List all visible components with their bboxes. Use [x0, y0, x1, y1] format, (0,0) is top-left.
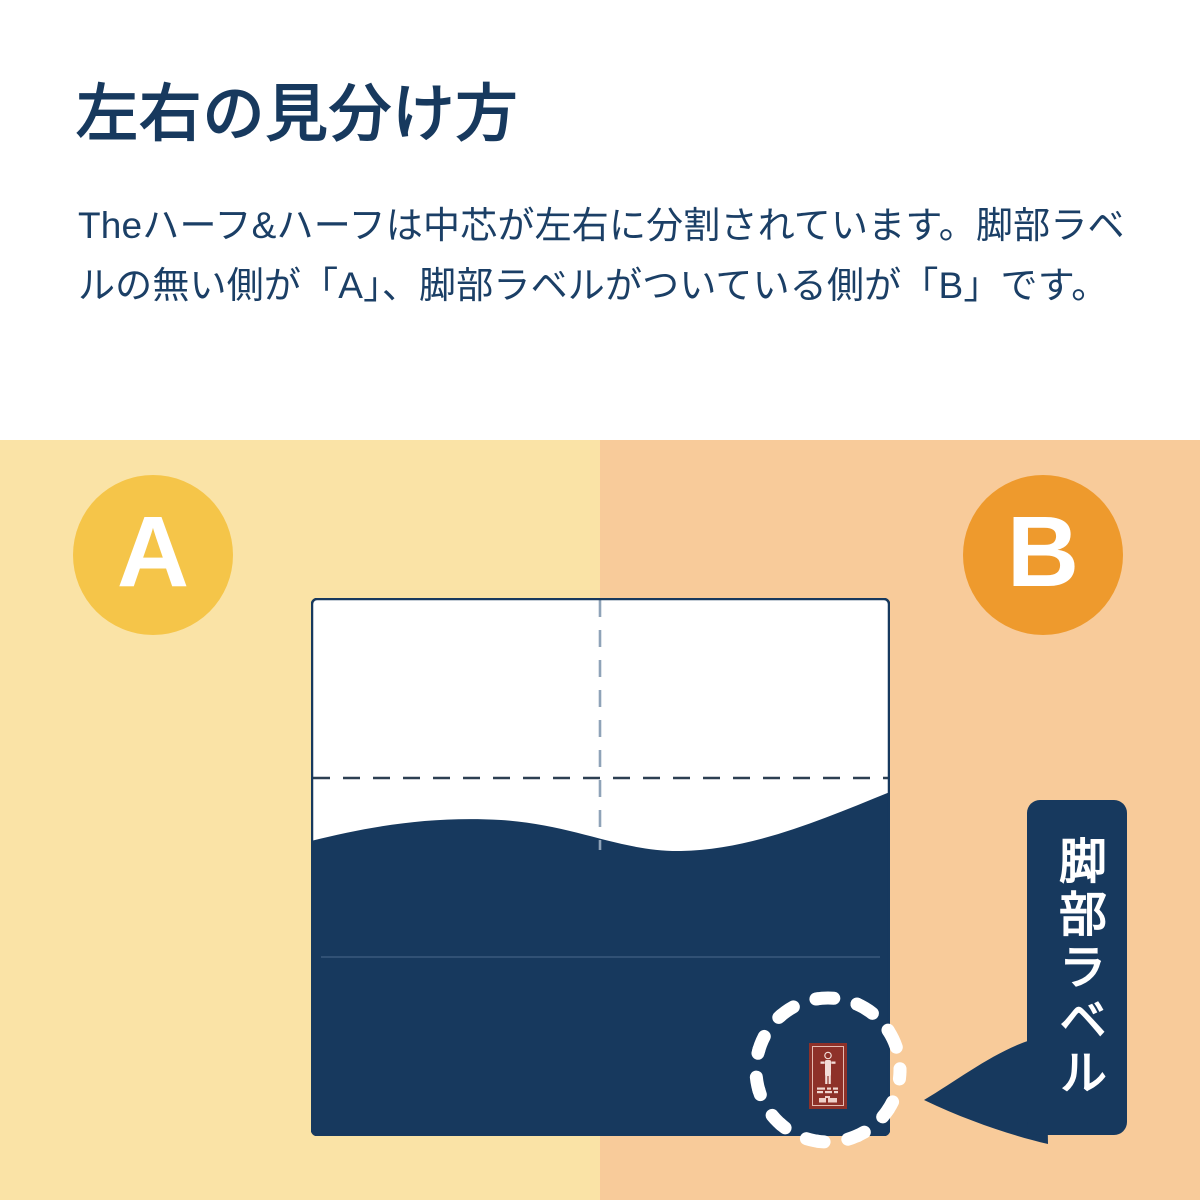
leg-label-tag-graphic: [809, 1043, 847, 1109]
badge-side-b: B: [963, 475, 1123, 635]
callout-box: 脚部ラベル: [1027, 800, 1127, 1135]
page-title: 左右の見分け方: [76, 82, 519, 147]
mattress-diagram: [311, 598, 890, 1136]
infographic-page: 左右の見分け方 Theハーフ&ハーフは中芯が左右に分割されています。脚部ラベルの…: [0, 0, 1200, 1200]
badge-a-letter: A: [117, 502, 189, 602]
badge-side-a: A: [73, 475, 233, 635]
mattress-illustration: [311, 598, 890, 1136]
header-section: 左右の見分け方 Theハーフ&ハーフは中芯が左右に分割されています。脚部ラベルの…: [0, 0, 1200, 440]
leg-label-tag: [809, 1043, 847, 1109]
callout-label-text: 脚部ラベル: [1053, 836, 1101, 1100]
badge-b-letter: B: [1007, 502, 1079, 602]
intro-description: Theハーフ&ハーフは中芯が左右に分割されています。脚部ラベルの無い側が「A」、…: [78, 196, 1148, 316]
